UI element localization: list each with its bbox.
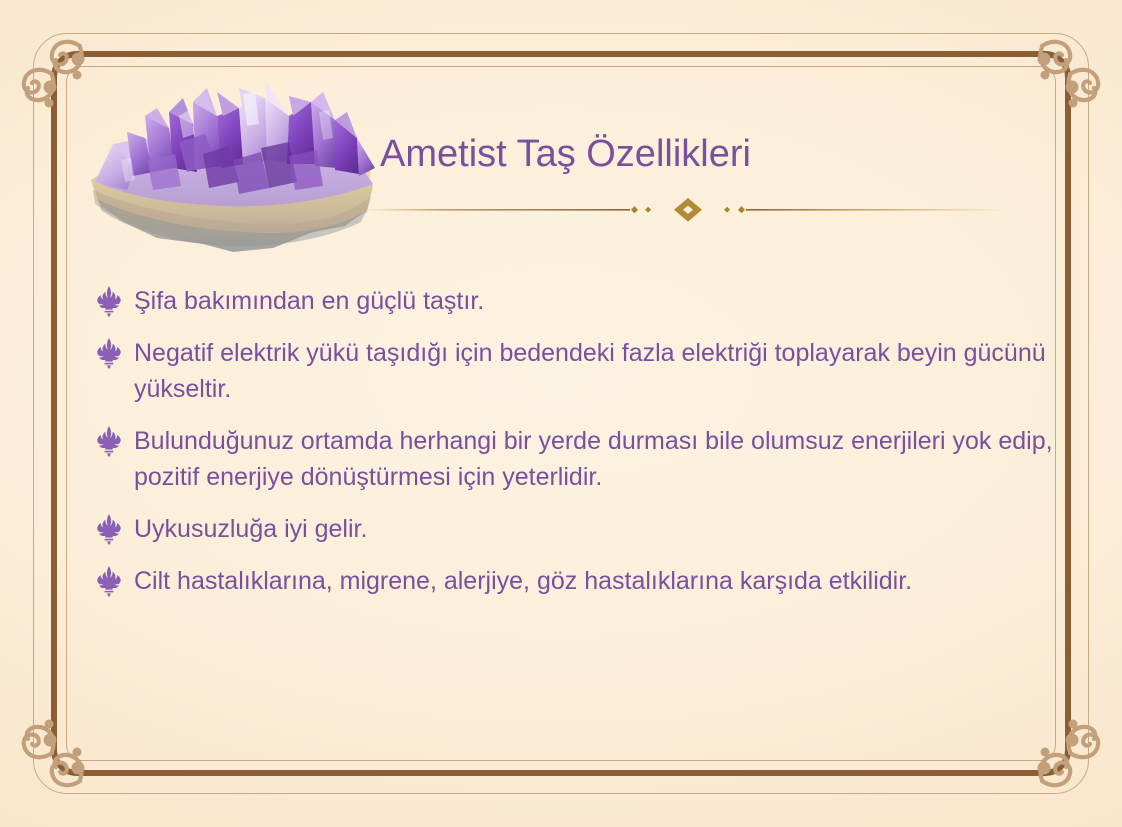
list-item: Negatif elektrik yükü taşıdığı için bede… — [94, 335, 1079, 407]
list-item-text: Cilt hastalıklarına, migrene, alerjiye, … — [124, 563, 1079, 599]
list-item: Uykusuzluğa iyi gelir. — [94, 511, 1079, 547]
list-item: Bulunduğunuz ortamda herhangi bir yerde … — [94, 423, 1079, 495]
corner-ornament-top-right — [984, 18, 1104, 138]
list-item: Cilt hastalıklarına, migrene, alerjiye, … — [94, 563, 1079, 599]
info-card: Ametist Taş Özellikleri — [0, 0, 1122, 827]
amethyst-crystal-image — [83, 72, 383, 262]
divider-ornament — [368, 197, 1008, 223]
list-item-text: Şifa bakımından en güçlü taştır. — [124, 283, 1079, 319]
fleur-de-lis-icon — [94, 337, 124, 369]
list-item-text: Uykusuzluğa iyi gelir. — [124, 511, 1079, 547]
fleur-de-lis-icon — [94, 285, 124, 317]
list-item-text: Negatif elektrik yükü taşıdığı için bede… — [124, 335, 1079, 407]
list-item: Şifa bakımından en güçlü taştır. — [94, 283, 1079, 319]
corner-ornament-bottom-right — [984, 689, 1104, 809]
fleur-de-lis-icon — [94, 425, 124, 457]
corner-ornament-bottom-left — [18, 689, 138, 809]
fleur-de-lis-icon — [94, 565, 124, 597]
properties-list: Şifa bakımından en güçlü taştır. Negatif… — [94, 283, 1079, 615]
page-title: Ametist Taş Özellikleri — [380, 133, 1000, 176]
list-item-text: Bulunduğunuz ortamda herhangi bir yerde … — [124, 423, 1079, 495]
fleur-de-lis-icon — [94, 513, 124, 545]
